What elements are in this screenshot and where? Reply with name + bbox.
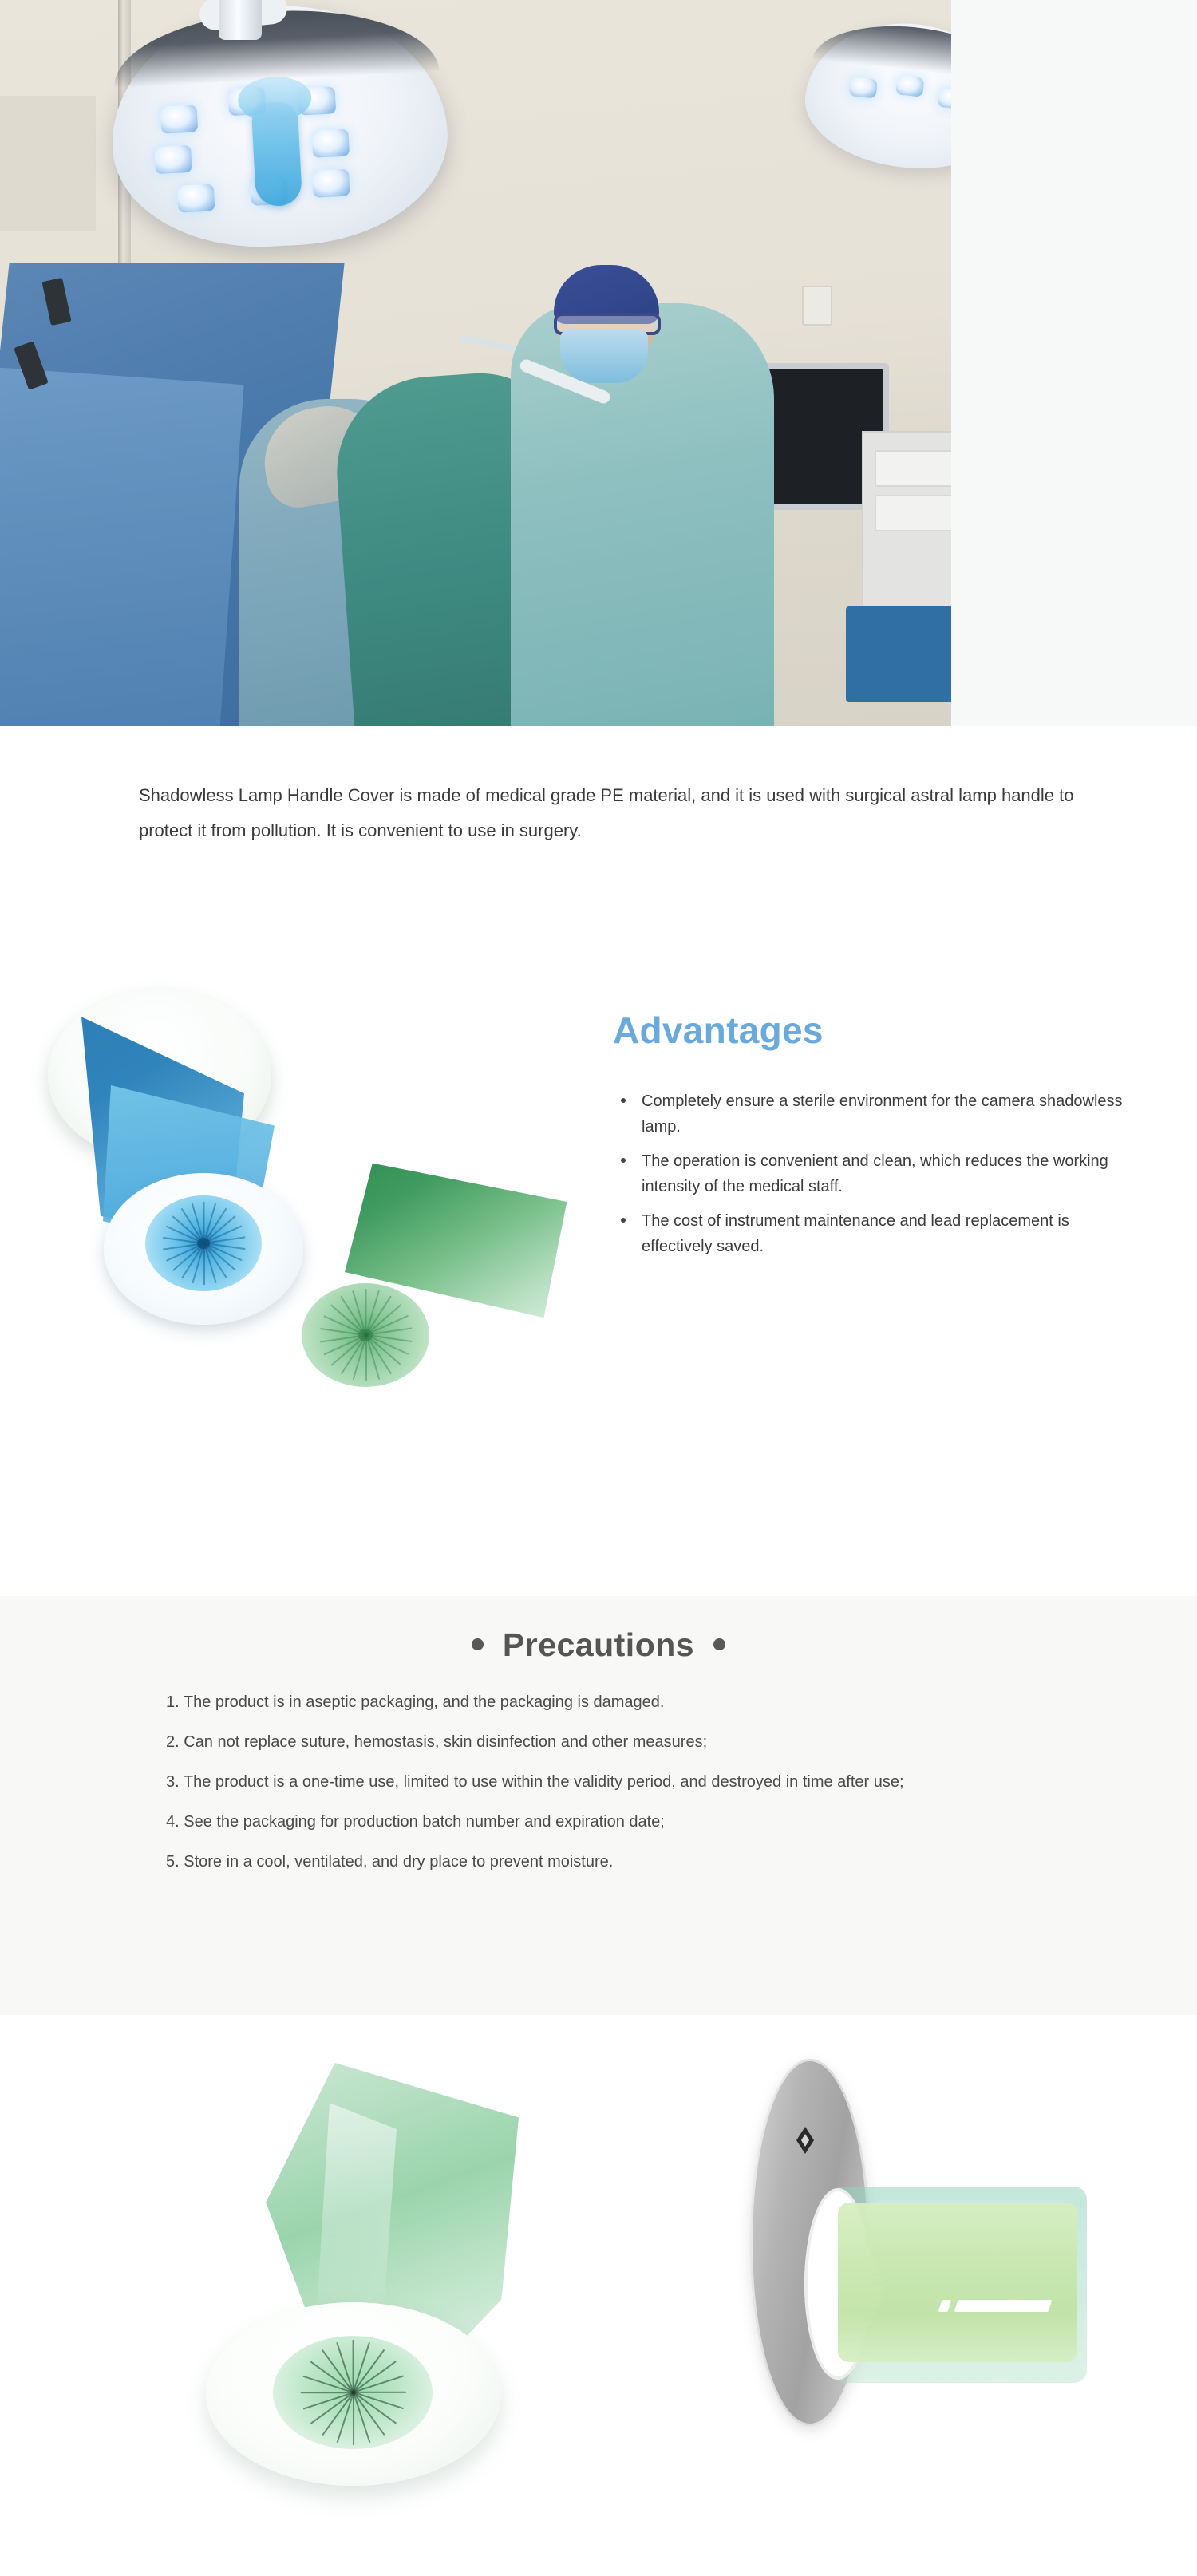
cover-sleeve (838, 2203, 1077, 2362)
blue-knob-rays (145, 1195, 262, 1291)
precaution-item: 3. The product is a one-time use, limite… (166, 1770, 1084, 1795)
product-page: Shadowless Lamp Handle Cover Shadowless … (0, 0, 1197, 2576)
lamp-led (311, 128, 350, 157)
precaution-item: 4. See the packaging for production batc… (166, 1810, 1084, 1835)
advantage-item: Completely ensure a sterile environment … (613, 1088, 1136, 1140)
advantage-item: The cost of instrument maintenance and l… (613, 1208, 1136, 1260)
bottom-gallery-section (0, 2015, 1197, 2576)
precaution-item: 5. Store in a cool, ventilated, and dry … (166, 1850, 1084, 1875)
hero-section: Shadowless Lamp Handle Cover (0, 0, 1197, 726)
bullet-dot-icon (472, 1638, 484, 1650)
medical-cabinet (862, 431, 951, 610)
surgeon-mask (560, 329, 648, 383)
lamp-handle-cover-blue (251, 101, 302, 207)
precautions-heading-text: Precautions (503, 1626, 694, 1663)
product-description: Shadowless Lamp Handle Cover is made of … (139, 778, 1080, 848)
advantages-list: Completely ensure a sterile environment … (613, 1088, 1171, 1259)
handle-mount-diagram (742, 2043, 1077, 2538)
hero-photo (0, 0, 951, 726)
description-section: Shadowless Lamp Handle Cover is made of … (0, 726, 1197, 974)
cabinet-drawer (875, 450, 951, 487)
lamp-arm (219, 0, 262, 40)
advantages-section: Advantages Completely ensure a sterile e… (0, 974, 1197, 1596)
advantages-heading: Advantages (613, 974, 1171, 1049)
advantage-item: The operation is convenient and clean, w… (613, 1148, 1136, 1200)
bullet-dot-icon (713, 1638, 725, 1650)
green-cup-rays (273, 2336, 433, 2449)
green-cover-product-image (184, 2055, 527, 2550)
waste-bin (846, 606, 951, 702)
lamp-led (938, 88, 951, 109)
cabinet-drawer (875, 495, 951, 531)
hero-sidebar: Shadowless Lamp Handle Cover (951, 0, 1197, 726)
lamp-led (154, 145, 192, 174)
precautions-section: Precautions 1. The product is in aseptic… (0, 1596, 1197, 2015)
advantages-product-image (48, 990, 575, 1532)
precautions-list: 1. The product is in aseptic packaging, … (166, 1690, 1084, 1890)
sleeve-label-bar (954, 2300, 1053, 2312)
precaution-item: 1. The product is in aseptic packaging, … (166, 1690, 1084, 1715)
wall-panel (0, 96, 96, 231)
lamp-led (895, 75, 924, 97)
green-knob-rays (302, 1283, 429, 1387)
lamp-led (849, 77, 878, 98)
lamp-led (160, 105, 199, 133)
lamp-led (312, 169, 350, 198)
lamp-led (177, 184, 215, 212)
blue-surgical-drape (0, 366, 244, 726)
precautions-heading: Precautions (0, 1596, 1197, 1664)
wall-switch (802, 286, 832, 326)
advantages-content: Advantages Completely ensure a sterile e… (613, 974, 1171, 1267)
precaution-item: 2. Can not replace suture, hemostasis, s… (166, 1730, 1084, 1755)
